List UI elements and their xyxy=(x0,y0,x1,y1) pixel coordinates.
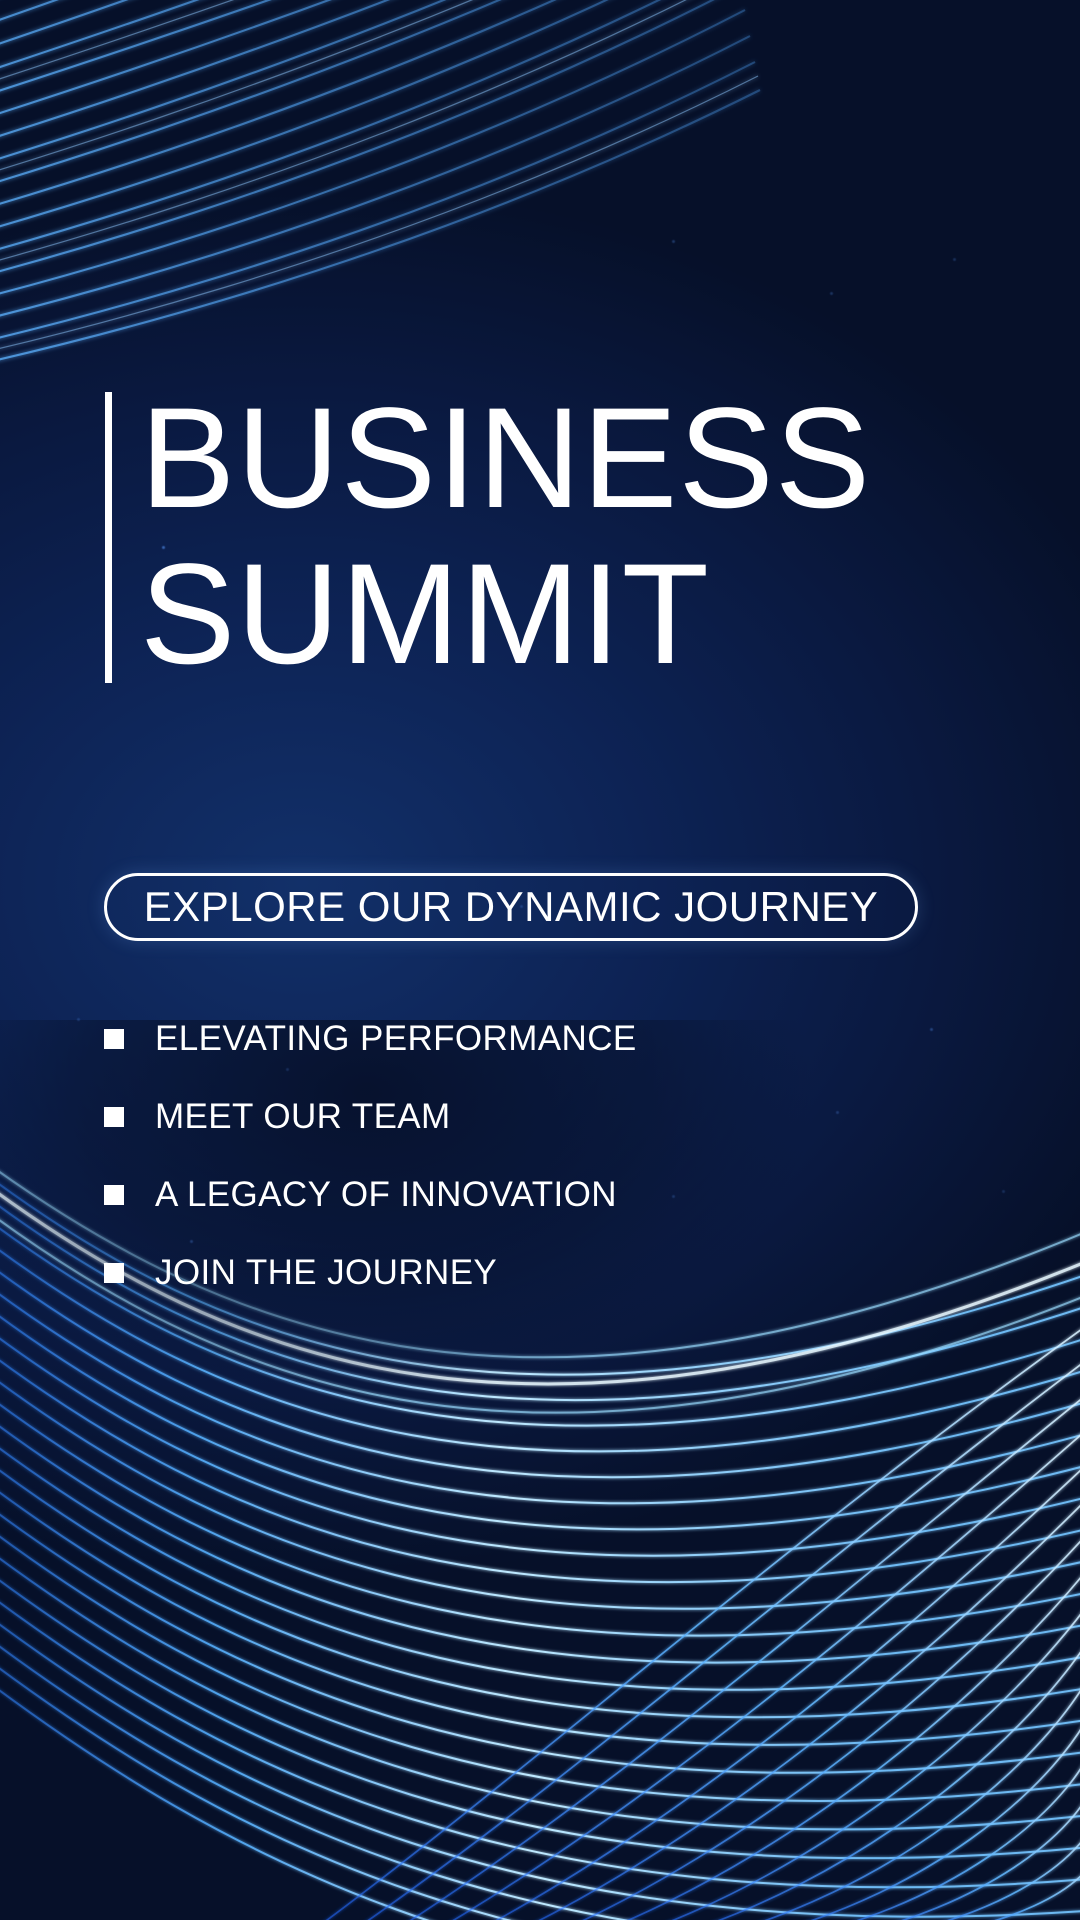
title-line-1: BUSINESS xyxy=(140,392,871,526)
title-block: BUSINESS SUMMIT xyxy=(105,392,871,683)
list-item-label: MEET OUR TEAM xyxy=(155,1097,451,1137)
square-bullet-icon xyxy=(104,1185,124,1205)
explore-journey-button[interactable]: EXPLORE OUR DYNAMIC JOURNEY xyxy=(104,873,918,941)
poster-canvas: BUSINESS SUMMIT EXPLORE OUR DYNAMIC JOUR… xyxy=(0,0,1080,1920)
list-item[interactable]: MEET OUR TEAM xyxy=(104,1078,864,1156)
list-item[interactable]: A LEGACY OF INNOVATION xyxy=(104,1156,864,1234)
list-item-label: JOIN THE JOURNEY xyxy=(155,1253,497,1293)
list-item[interactable]: ELEVATING PERFORMANCE xyxy=(104,1000,864,1078)
square-bullet-icon xyxy=(104,1029,124,1049)
list-item-label: ELEVATING PERFORMANCE xyxy=(155,1019,637,1059)
title-lines: BUSINESS SUMMIT xyxy=(140,392,871,683)
square-bullet-icon xyxy=(104,1107,124,1127)
poster-content: BUSINESS SUMMIT EXPLORE OUR DYNAMIC JOUR… xyxy=(0,0,1080,1920)
explore-journey-button-label: EXPLORE OUR DYNAMIC JOURNEY xyxy=(144,883,879,931)
title-line-2: SUMMIT xyxy=(140,548,871,682)
title-accent-bar xyxy=(105,392,112,683)
list-item[interactable]: JOIN THE JOURNEY xyxy=(104,1234,864,1312)
feature-list: ELEVATING PERFORMANCE MEET OUR TEAM A LE… xyxy=(104,1000,864,1312)
square-bullet-icon xyxy=(104,1263,124,1283)
list-item-label: A LEGACY OF INNOVATION xyxy=(155,1175,617,1215)
